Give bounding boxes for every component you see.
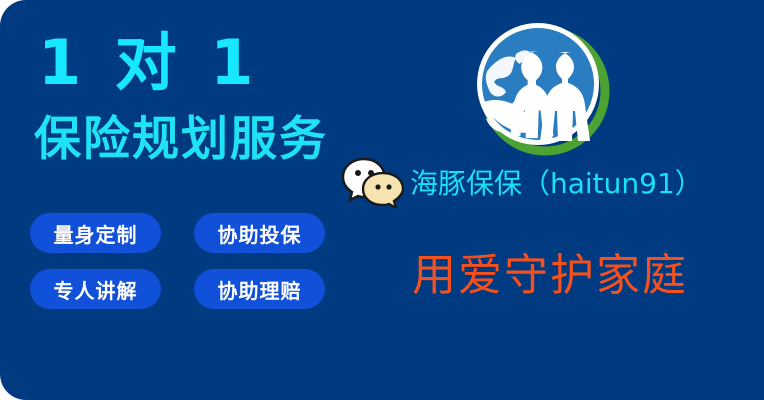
wechat-front-eye-right xyxy=(386,184,391,189)
wechat-icon xyxy=(342,156,404,208)
feature-pill-row: 量身定制 协助投保 xyxy=(30,213,340,253)
wechat-id-label: 海豚保保（haitun91） xyxy=(410,162,703,202)
promo-banner: 1 对 1 保险规划服务 量身定制 协助投保 专人讲解 协助理赔 xyxy=(0,0,764,400)
dolphin-family-globe-logo xyxy=(472,18,612,158)
wechat-icon-svg xyxy=(342,156,404,208)
left-content-column: 1 对 1 保险规划服务 量身定制 协助投保 专人讲解 协助理赔 xyxy=(0,0,360,400)
wechat-front-bubble xyxy=(363,173,403,208)
feature-pill-grid: 量身定制 协助投保 专人讲解 协助理赔 xyxy=(30,213,340,325)
feature-pill-apply-assist[interactable]: 协助投保 xyxy=(194,213,325,253)
wechat-contact-line: 海豚保保（haitun91） xyxy=(342,156,703,208)
wechat-front-eye-left xyxy=(375,184,380,189)
slogan-text: 用爱守护家庭 xyxy=(412,248,688,304)
feature-pill-expert-explain[interactable]: 专人讲解 xyxy=(30,269,161,309)
feature-pill-claim-assist[interactable]: 协助理赔 xyxy=(194,269,325,309)
feature-pill-custom[interactable]: 量身定制 xyxy=(30,213,161,253)
headline-secondary: 保险规划服务 xyxy=(34,112,328,168)
globe-logo-svg xyxy=(472,18,612,158)
right-content-column: 海豚保保（haitun91） 用爱守护家庭 xyxy=(360,0,764,400)
headline-primary: 1 对 1 xyxy=(38,28,259,98)
feature-pill-row: 专人讲解 协助理赔 xyxy=(30,269,340,309)
wechat-back-eye-left xyxy=(355,170,361,176)
